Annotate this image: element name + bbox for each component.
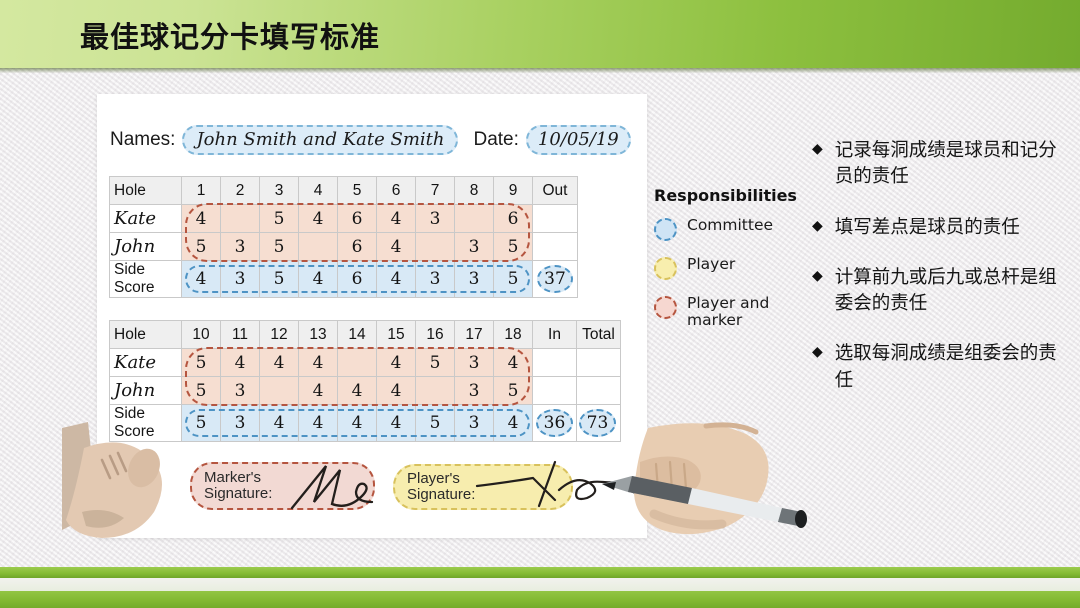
score-cell[interactable]: 4	[260, 405, 299, 442]
score-cell[interactable]: 5	[416, 405, 455, 442]
table-row: Side Score435464335	[110, 261, 578, 298]
score-cell[interactable]: 4	[338, 405, 377, 442]
score-cell[interactable]: 4	[377, 405, 416, 442]
score-cell[interactable]: 4	[377, 233, 416, 261]
names-row: Names: John Smith and Kate Smith Date: 1…	[110, 125, 631, 155]
footer-bar-lower	[0, 591, 1080, 608]
score-cell[interactable]	[416, 233, 455, 261]
grand-total-cell[interactable]	[577, 349, 621, 377]
legend-item-committee: Committee	[654, 217, 804, 241]
score-cell[interactable]: 4	[299, 261, 338, 298]
bullet-list: ◆ 记录每洞成绩是球员和记分员的责任 ◆ 填写差点是球员的责任 ◆ 计算前九或后…	[812, 138, 1067, 418]
column-header-in: In	[533, 321, 577, 349]
score-cell[interactable]: 4	[221, 349, 260, 377]
column-header-1: 1	[182, 177, 221, 205]
score-cell[interactable]: 6	[494, 205, 533, 233]
in-total-cell[interactable]	[533, 349, 577, 377]
column-header-17: 17	[455, 321, 494, 349]
column-header-13: 13	[299, 321, 338, 349]
date-label: Date:	[473, 129, 518, 151]
score-cell[interactable]: 3	[221, 261, 260, 298]
row-label: John	[110, 233, 182, 261]
grand-total-cell[interactable]	[577, 377, 621, 405]
score-cell[interactable]	[416, 377, 455, 405]
table-row: Kate54444534	[110, 349, 621, 377]
diamond-bullet-icon: ◆	[812, 265, 823, 318]
table-header-row: Hole123456789Out	[110, 177, 578, 205]
front-nine-table: Hole123456789OutKate4546436John5356435Si…	[109, 176, 578, 298]
column-header-7: 7	[416, 177, 455, 205]
score-cell[interactable]: 3	[455, 261, 494, 298]
score-cell[interactable]: 4	[494, 349, 533, 377]
score-cell[interactable]	[455, 205, 494, 233]
score-cell[interactable]: 3	[455, 233, 494, 261]
score-cell[interactable]: 5	[260, 233, 299, 261]
slide-background: 最佳球记分卡填写标准 Names: John Smith and Kate Sm…	[0, 0, 1080, 608]
bullet-item-2: ◆ 填写差点是球员的责任	[812, 215, 1067, 241]
score-cell[interactable]: 5	[494, 377, 533, 405]
bullet-item-1: ◆ 记录每洞成绩是球员和记分员的责任	[812, 138, 1067, 191]
score-cell[interactable]: 3	[416, 205, 455, 233]
marker-signature-box[interactable]: Marker's Signature:	[190, 462, 375, 510]
header-shadow	[0, 68, 1080, 73]
marker-signature-label-line2: Signature:	[204, 486, 272, 502]
column-header-4: 4	[299, 177, 338, 205]
legend-label-player: Player	[687, 256, 735, 273]
column-header-15: 15	[377, 321, 416, 349]
bullet-item-3: ◆ 计算前九或后九或总杆是组委会的责任	[812, 265, 1067, 318]
score-cell[interactable]: 3	[455, 349, 494, 377]
score-cell[interactable]: 3	[221, 233, 260, 261]
score-cell[interactable]: 4	[299, 205, 338, 233]
names-value-field[interactable]: John Smith and Kate Smith	[182, 125, 458, 155]
legend-item-player-and-marker: Player and marker	[654, 295, 804, 330]
column-header-12: 12	[260, 321, 299, 349]
column-header-16: 16	[416, 321, 455, 349]
column-header-11: 11	[221, 321, 260, 349]
row-label: Side Score	[110, 261, 182, 298]
legend-label-player-and-marker: Player and marker	[687, 295, 804, 330]
row-label: Kate	[110, 205, 182, 233]
score-cell[interactable]: 3	[416, 261, 455, 298]
score-cell[interactable]	[260, 377, 299, 405]
legend-item-player: Player	[654, 256, 804, 280]
score-cell[interactable]: 4	[338, 377, 377, 405]
legend: Responsibilities Committee Player Player…	[654, 186, 804, 345]
row-label: Kate	[110, 349, 182, 377]
bullet-text-4: 选取每洞成绩是组委会的责任	[835, 341, 1067, 394]
score-cell[interactable]: 6	[338, 233, 377, 261]
in-total-cell[interactable]	[533, 377, 577, 405]
marker-signature-label-line1: Marker's	[204, 470, 272, 486]
diamond-bullet-icon: ◆	[812, 215, 823, 241]
score-cell[interactable]: 5	[416, 349, 455, 377]
score-cell[interactable]: 4	[299, 377, 338, 405]
column-header-14: 14	[338, 321, 377, 349]
date-value-field[interactable]: 10/05/19	[526, 125, 631, 155]
hand-with-pen-illustration	[596, 418, 826, 548]
score-cell[interactable]: 4	[377, 205, 416, 233]
page-title: 最佳球记分卡填写标准	[80, 14, 380, 56]
column-header-10: 10	[182, 321, 221, 349]
table-header-row: Hole101112131415161718InTotal	[110, 321, 621, 349]
diamond-bullet-icon: ◆	[812, 341, 823, 394]
table-row: John5344435	[110, 377, 621, 405]
score-cell[interactable]: 4	[377, 377, 416, 405]
score-cell[interactable]: 4	[299, 405, 338, 442]
score-cell[interactable]: 3	[455, 377, 494, 405]
footer-gap-strip	[0, 578, 1080, 591]
score-cell[interactable]	[221, 205, 260, 233]
out-total-cell[interactable]	[533, 233, 578, 261]
score-cell[interactable]: 4	[182, 205, 221, 233]
score-cell[interactable]: 5	[494, 233, 533, 261]
score-cell[interactable]: 4	[377, 261, 416, 298]
column-header-3: 3	[260, 177, 299, 205]
column-header-total: Total	[577, 321, 621, 349]
diamond-bullet-icon: ◆	[812, 138, 823, 191]
player-signature-label-line1: Player's	[407, 471, 475, 487]
legend-title: Responsibilities	[654, 186, 804, 205]
table-row: John5356435	[110, 233, 578, 261]
column-header-2: 2	[221, 177, 260, 205]
score-cell[interactable]: 5	[494, 261, 533, 298]
front-out-total-ring: 37	[537, 265, 573, 293]
bullet-text-2: 填写差点是球员的责任	[835, 215, 1020, 241]
score-cell[interactable]: 6	[338, 261, 377, 298]
score-cell[interactable]: 5	[260, 261, 299, 298]
column-header-out: Out	[533, 177, 578, 205]
committee-color-dot-icon	[654, 218, 677, 241]
score-cell[interactable]: 4	[299, 349, 338, 377]
table-row: Kate4546436	[110, 205, 578, 233]
score-cell[interactable]: 3	[455, 405, 494, 442]
score-cell[interactable]: 5	[182, 377, 221, 405]
column-header-6: 6	[377, 177, 416, 205]
column-header-9: 9	[494, 177, 533, 205]
score-cell[interactable]: 4	[260, 349, 299, 377]
names-label: Names:	[110, 129, 175, 151]
column-header-hole: Hole	[110, 177, 182, 205]
player-marker-color-dot-icon	[654, 296, 677, 319]
player-color-dot-icon	[654, 257, 677, 280]
score-cell[interactable]: 5	[260, 205, 299, 233]
thumb-illustration	[58, 420, 188, 545]
bullet-text-1: 记录每洞成绩是球员和记分员的责任	[835, 138, 1067, 191]
back-in-total-ring: 36	[536, 409, 573, 437]
column-header-8: 8	[455, 177, 494, 205]
player-signature-box[interactable]: Player's Signature:	[393, 464, 573, 510]
player-signature-label-line2: Signature:	[407, 487, 475, 503]
legend-label-committee: Committee	[687, 217, 773, 234]
score-cell[interactable]: 6	[338, 205, 377, 233]
score-cell[interactable]: 4	[182, 261, 221, 298]
score-cell[interactable]	[299, 233, 338, 261]
score-cell[interactable]: 3	[221, 377, 260, 405]
bullet-item-4: ◆ 选取每洞成绩是组委会的责任	[812, 341, 1067, 394]
column-header-hole: Hole	[110, 321, 182, 349]
bullet-text-3: 计算前九或后九或总杆是组委会的责任	[835, 265, 1067, 318]
footer-bar-upper	[0, 567, 1080, 578]
score-cell[interactable]: 5	[182, 233, 221, 261]
score-cell[interactable]: 3	[221, 405, 260, 442]
out-total-cell[interactable]	[533, 205, 578, 233]
score-cell[interactable]: 5	[182, 349, 221, 377]
column-header-18: 18	[494, 321, 533, 349]
score-cell[interactable]: 4	[377, 349, 416, 377]
row-label: John	[110, 377, 182, 405]
score-cell[interactable]	[338, 349, 377, 377]
score-cell[interactable]: 4	[494, 405, 533, 442]
column-header-5: 5	[338, 177, 377, 205]
